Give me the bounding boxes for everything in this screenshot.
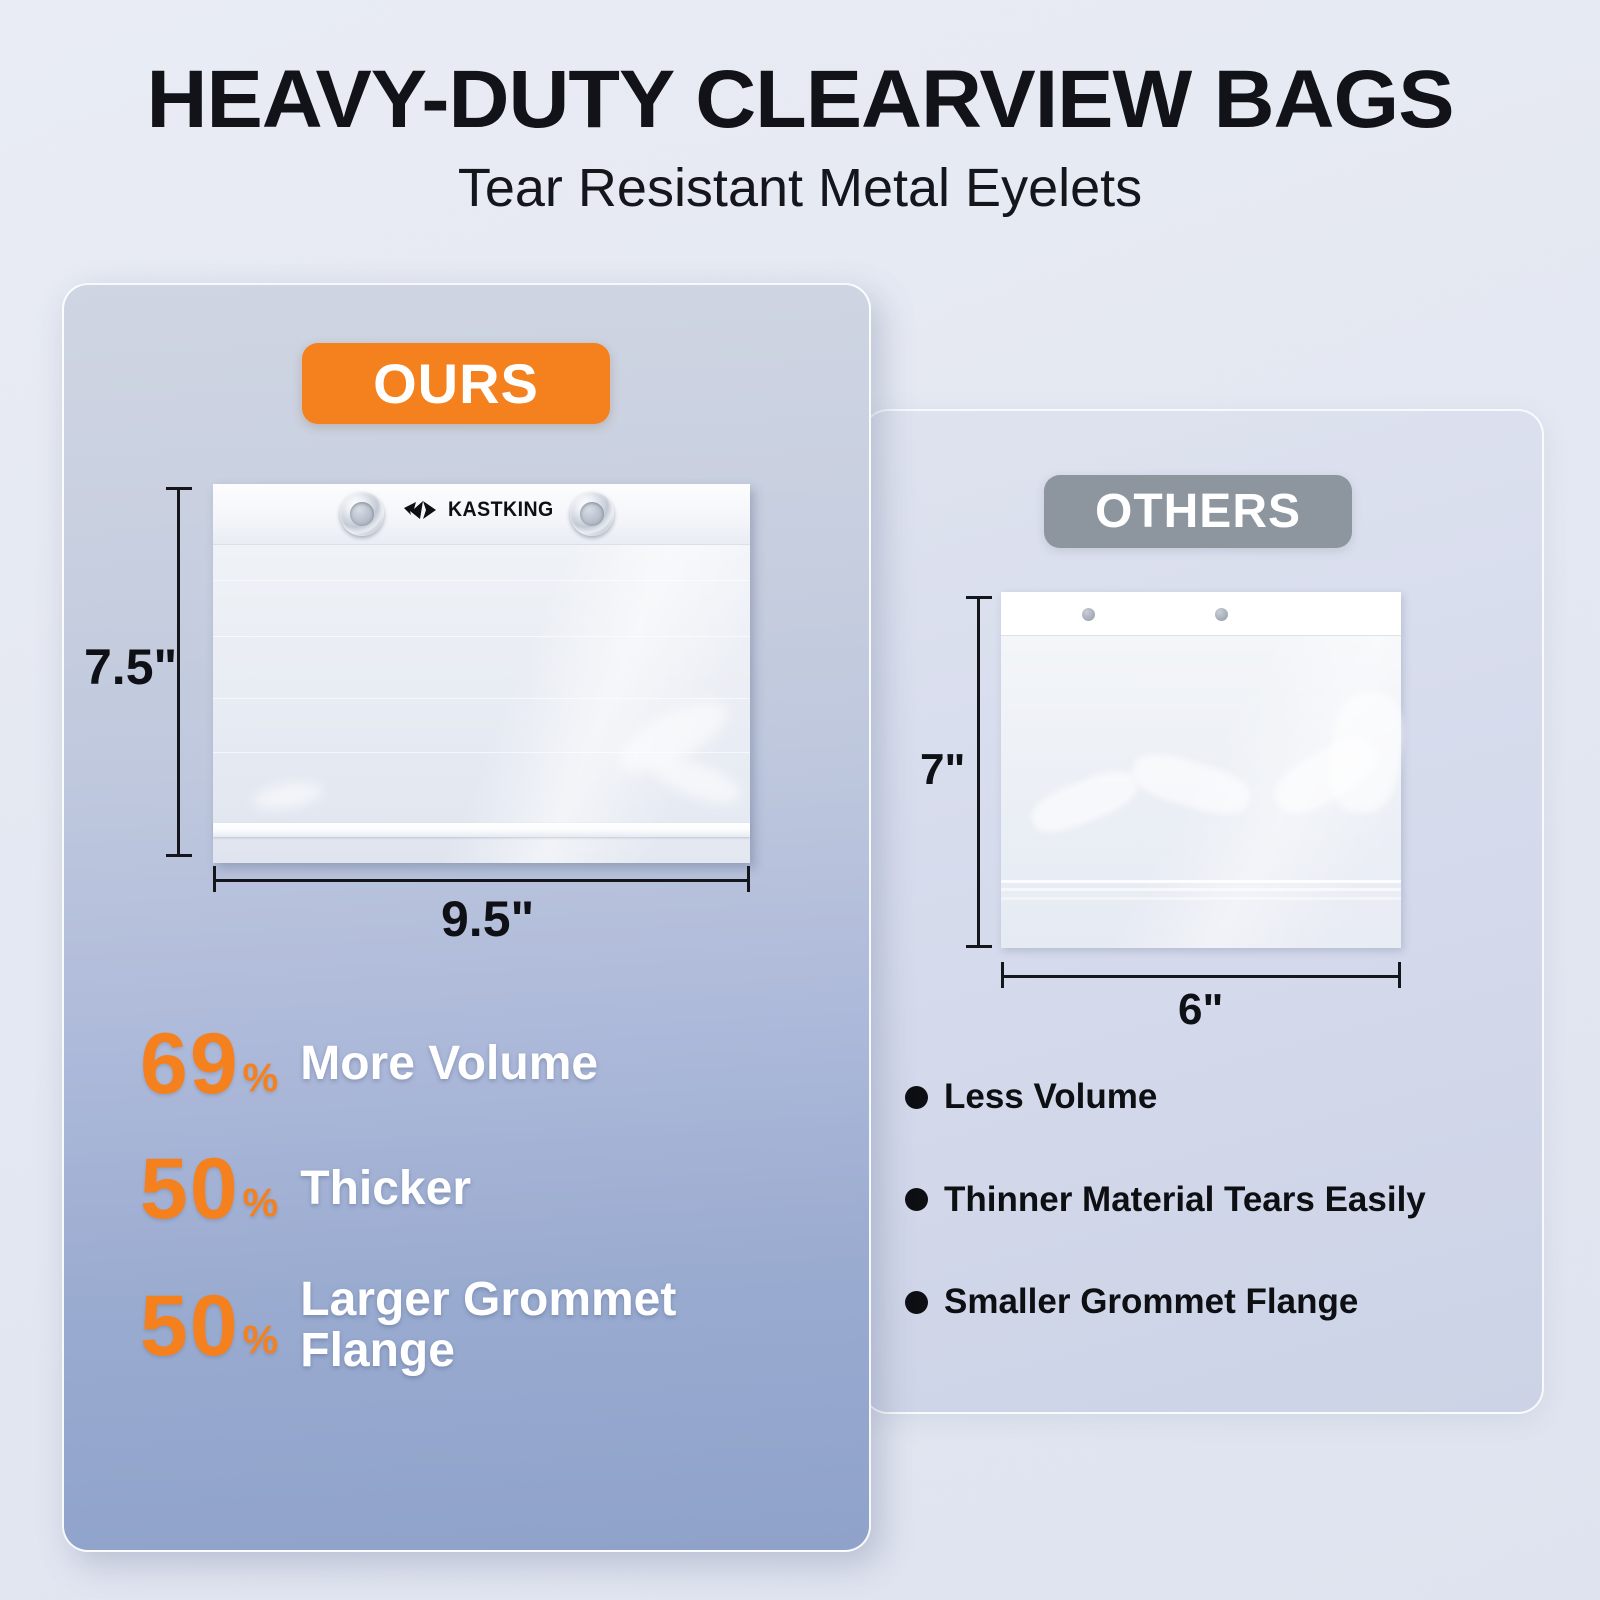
bullet-label: Less Volume — [944, 1078, 1157, 1117]
list-item: Smaller Grommet Flange — [905, 1283, 1525, 1322]
others-height-dim-cap — [966, 596, 992, 599]
stat-number: 69 — [140, 1025, 240, 1104]
stat-number: 50 — [140, 1150, 240, 1229]
ours-width-dim-cap — [213, 866, 216, 892]
punch-hole-icon — [1215, 608, 1228, 621]
ours-bag-image: KASTKING — [213, 484, 750, 863]
stat-row: 69 % More Volume — [140, 1025, 840, 1104]
badge-ours: OURS — [302, 343, 610, 424]
bullet-label: Thinner Material Tears Easily — [944, 1181, 1426, 1220]
kastking-arrow-icon — [403, 499, 437, 521]
plastic-crease — [213, 698, 750, 699]
stat-percent-sign: % — [243, 1183, 279, 1229]
ours-height-dim-cap — [166, 487, 192, 490]
stat-label: Larger Grommet Flange — [300, 1275, 730, 1377]
stat-number: 50 — [140, 1287, 240, 1366]
brand-logo: KASTKING — [403, 498, 558, 522]
ours-bag-bottom-seal — [213, 823, 750, 837]
plastic-sheen — [650, 750, 746, 813]
badge-others: OTHERS — [1044, 475, 1352, 548]
metal-grommet-icon — [570, 492, 614, 536]
others-bag-image — [1001, 592, 1401, 948]
ours-width-dim-line — [213, 879, 750, 882]
zip-seal-line — [1001, 880, 1401, 883]
list-item: Less Volume — [905, 1078, 1525, 1117]
stat-number-group: 50 % — [140, 1287, 278, 1366]
badge-others-label: OTHERS — [1095, 484, 1301, 539]
others-width-dim-cap — [1398, 962, 1401, 988]
ours-height-label: 7.5" — [84, 638, 177, 696]
ours-height-dim-cap — [166, 854, 192, 857]
others-bag-header-strip — [1001, 592, 1401, 636]
others-height-label: 7" — [920, 745, 965, 795]
stat-label: Thicker — [300, 1164, 471, 1215]
list-item: Thinner Material Tears Easily — [905, 1181, 1525, 1220]
badge-ours-label: OURS — [373, 351, 539, 416]
others-width-dim-line — [1001, 975, 1401, 978]
ours-width-dim-cap — [747, 866, 750, 892]
header: HEAVY-DUTY CLEARVIEW BAGS Tear Resistant… — [0, 0, 1600, 216]
others-bullet-list: Less Volume Thinner Material Tears Easil… — [905, 1078, 1525, 1386]
plastic-crease — [213, 636, 750, 637]
punch-hole-icon — [1082, 608, 1095, 621]
others-height-dim-cap — [966, 945, 992, 948]
plastic-wrinkle — [1127, 746, 1254, 821]
plastic-sheen — [251, 778, 324, 814]
ours-stats-list: 69 % More Volume 50 % Thicker 50 % Large… — [140, 1025, 840, 1423]
ours-width-label: 9.5" — [441, 890, 534, 948]
bullet-dot-icon — [905, 1086, 928, 1109]
metal-grommet-icon — [340, 492, 384, 536]
bullet-dot-icon — [905, 1188, 928, 1211]
bullet-dot-icon — [905, 1291, 928, 1314]
stat-label: More Volume — [300, 1039, 598, 1090]
others-width-dim-cap — [1001, 962, 1004, 988]
plastic-wrinkle — [1323, 688, 1409, 817]
stat-percent-sign: % — [243, 1320, 279, 1366]
stat-percent-sign: % — [243, 1058, 279, 1104]
stat-row: 50 % Larger Grommet Flange — [140, 1275, 840, 1377]
others-width-label: 6" — [1178, 985, 1223, 1035]
brand-name: KASTKING — [448, 498, 554, 522]
bullet-label: Smaller Grommet Flange — [944, 1283, 1358, 1322]
ours-height-dim-line — [177, 487, 180, 857]
plastic-crease — [213, 580, 750, 581]
plastic-wrinkle — [1026, 763, 1143, 841]
page-subtitle: Tear Resistant Metal Eyelets — [0, 160, 1600, 217]
page-title: HEAVY-DUTY CLEARVIEW BAGS — [0, 58, 1600, 142]
stat-row: 50 % Thicker — [140, 1150, 840, 1229]
stat-number-group: 50 % — [140, 1150, 278, 1229]
zip-seal-line — [1001, 888, 1401, 891]
others-height-dim-line — [977, 596, 980, 948]
zip-seal-line — [1001, 897, 1401, 900]
stat-number-group: 69 % — [140, 1025, 278, 1104]
